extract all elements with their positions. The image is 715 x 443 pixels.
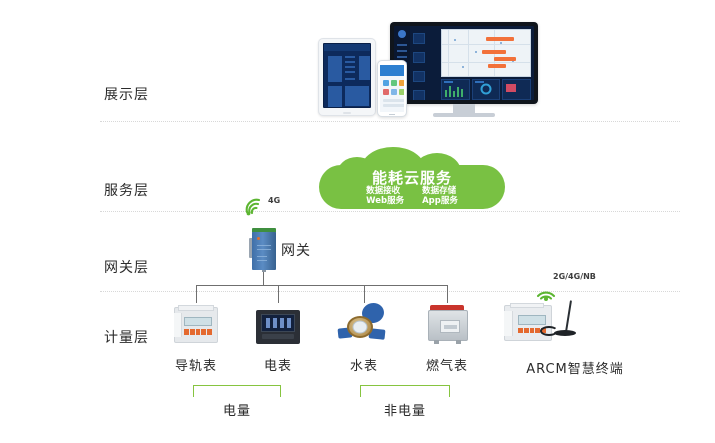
cloud-title: 能耗云服务 bbox=[319, 167, 505, 188]
meter-label-electric: 电表 bbox=[238, 355, 318, 374]
cloud-subtitles: 数据接收 Web服务 数据存储 App服务 bbox=[319, 186, 505, 206]
bracket-label-non-electricity: 非电量 bbox=[365, 400, 445, 419]
smartphone-device bbox=[377, 60, 407, 117]
monitor-base bbox=[433, 113, 495, 117]
line-branch-electric bbox=[278, 285, 279, 303]
gateway-signal-label: 4G bbox=[268, 196, 280, 205]
line-branch-din bbox=[196, 285, 197, 303]
phone-home-button bbox=[389, 114, 395, 115]
cloud-service: 能耗云服务 数据接收 Web服务 数据存储 App服务 bbox=[319, 147, 505, 209]
dashboard-widgets bbox=[441, 77, 531, 100]
line-gateway-bus bbox=[196, 285, 448, 286]
divider-presentation-service bbox=[100, 121, 680, 122]
widget-table bbox=[502, 79, 531, 100]
cloud-text-data-receive: 数据接收 bbox=[366, 186, 404, 196]
layer-label-service: 服务层 bbox=[104, 180, 184, 200]
tablet-screen bbox=[323, 43, 371, 108]
wifi-signal-icon-gateway bbox=[243, 196, 265, 216]
phone-screen bbox=[380, 65, 404, 112]
widget-gauge bbox=[472, 79, 501, 100]
panel-electric-meter-icon bbox=[253, 307, 303, 347]
line-gateway-trunk bbox=[263, 272, 264, 286]
meter-label-gas: 燃气表 bbox=[407, 355, 487, 374]
meter-label-water: 水表 bbox=[324, 355, 404, 374]
dashboard-avatar bbox=[398, 30, 406, 38]
dashboard-map bbox=[441, 29, 531, 77]
architecture-diagram: 展示层 服务层 网关层 计量层 bbox=[0, 0, 715, 443]
water-meter-icon bbox=[338, 303, 390, 345]
dashboard-main bbox=[440, 26, 534, 100]
tablet-device bbox=[318, 38, 376, 116]
monitor-device bbox=[390, 22, 538, 118]
bracket-non-electricity bbox=[360, 385, 450, 397]
cloud-text-app-service: App服务 bbox=[422, 196, 458, 206]
monitor-screen bbox=[394, 26, 534, 100]
antenna-icon bbox=[540, 300, 582, 340]
line-branch-water bbox=[364, 285, 365, 303]
dashboard-cards bbox=[410, 26, 440, 100]
monitor-bezel bbox=[390, 22, 538, 104]
bracket-label-electricity: 电量 bbox=[197, 400, 277, 419]
cloud-column-receive: 数据接收 Web服务 bbox=[366, 186, 404, 206]
terminal-label: ARCM智慧终端 bbox=[515, 358, 635, 377]
bracket-electricity bbox=[193, 385, 281, 397]
divider-service-gateway bbox=[100, 211, 680, 212]
meter-label-din-rail: 导轨表 bbox=[156, 355, 236, 374]
cloud-column-store: 数据存储 App服务 bbox=[422, 186, 458, 206]
tablet-home-button bbox=[343, 112, 351, 114]
gas-meter-icon bbox=[424, 305, 472, 345]
terminal-signal-label: 2G/4G/NB bbox=[553, 272, 596, 281]
wifi-signal-icon-terminal bbox=[535, 281, 557, 301]
gateway-device-icon bbox=[249, 228, 279, 272]
din-rail-meter-icon bbox=[170, 305, 222, 345]
layer-label-presentation: 展示层 bbox=[104, 84, 184, 104]
divider-gateway-metering bbox=[100, 291, 680, 292]
widget-chart bbox=[441, 79, 470, 100]
gateway-label: 网关 bbox=[281, 240, 311, 260]
monitor-neck bbox=[453, 104, 475, 113]
presentation-devices bbox=[305, 8, 540, 118]
cloud-text-data-store: 数据存储 bbox=[422, 186, 458, 196]
line-branch-gas bbox=[447, 285, 448, 303]
cloud-text-web-service: Web服务 bbox=[366, 196, 404, 206]
layer-label-gateway: 网关层 bbox=[104, 257, 184, 277]
